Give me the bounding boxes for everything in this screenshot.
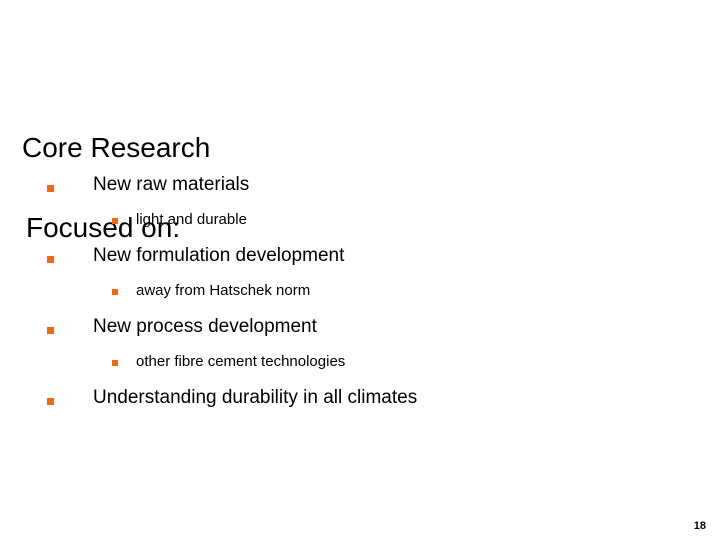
orange-square-bullet-icon bbox=[47, 256, 54, 263]
list-item: New raw materials bbox=[0, 172, 720, 206]
slide: Core Research Focused on: New raw materi… bbox=[0, 0, 720, 540]
list-item-label: other fibre cement technologies bbox=[136, 351, 345, 373]
list-item: other fibre cement technologies bbox=[0, 351, 720, 385]
title-line-1: Core Research bbox=[22, 128, 662, 168]
list-item: New formulation development bbox=[0, 243, 720, 277]
orange-square-bullet-icon bbox=[112, 289, 118, 295]
page-number: 18 bbox=[694, 520, 706, 532]
orange-square-bullet-icon bbox=[112, 218, 118, 224]
list-item-label: New process development bbox=[93, 314, 317, 340]
list-item-label: New formulation development bbox=[93, 243, 344, 269]
list-item: away from Hatschek norm bbox=[0, 280, 720, 314]
list-item-label: away from Hatschek norm bbox=[136, 280, 310, 302]
list-item-label: light and durable bbox=[136, 209, 247, 231]
list-item-label: New raw materials bbox=[93, 172, 249, 198]
list-item-label: Understanding durability in all climates bbox=[93, 385, 417, 411]
list-item: Understanding durability in all climates bbox=[0, 385, 720, 419]
bullet-list: New raw materials light and durable New … bbox=[0, 172, 720, 419]
list-item: New process development bbox=[0, 314, 720, 348]
list-item: light and durable bbox=[0, 209, 720, 243]
orange-square-bullet-icon bbox=[112, 360, 118, 366]
orange-square-bullet-icon bbox=[47, 185, 54, 192]
orange-square-bullet-icon bbox=[47, 398, 54, 405]
orange-square-bullet-icon bbox=[47, 327, 54, 334]
